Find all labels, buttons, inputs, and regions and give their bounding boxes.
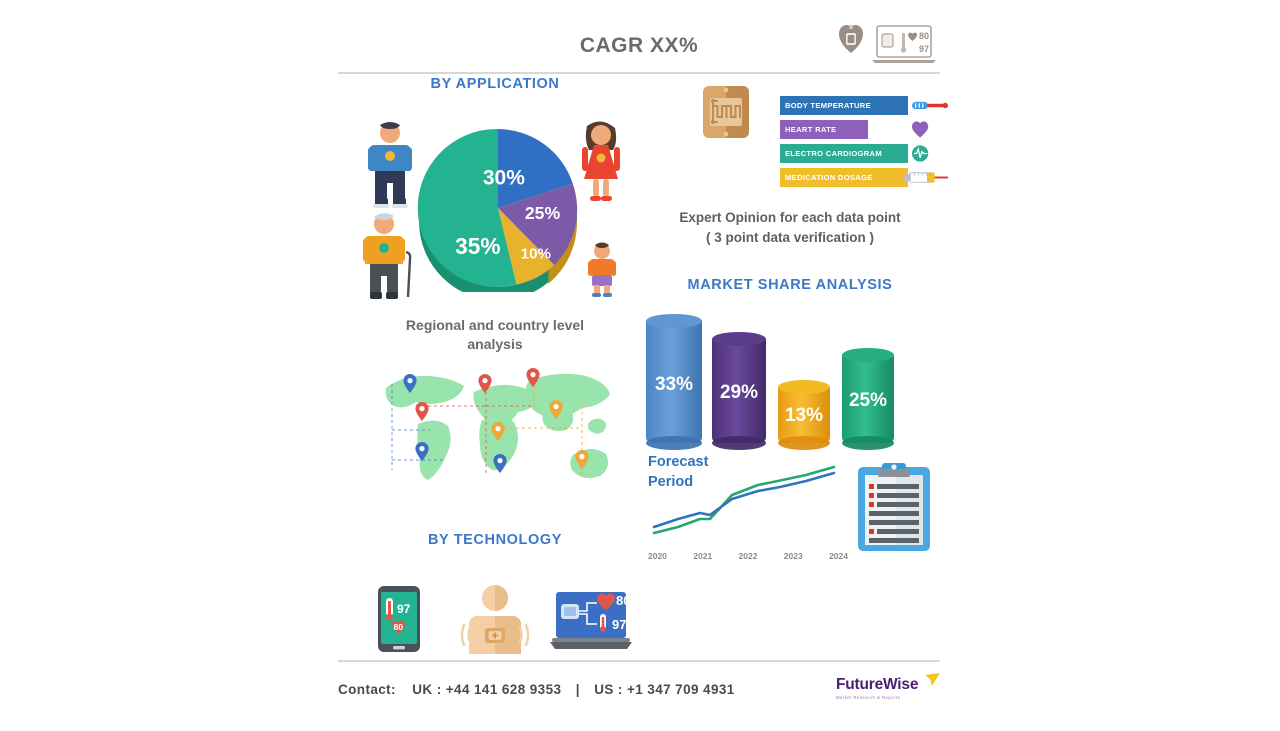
application-pie-chart: 30% 25% 10% 35% xyxy=(414,124,582,292)
bar-item: 33% xyxy=(646,321,702,443)
by-application-title: BY APPLICATION xyxy=(350,76,640,92)
bar-value: 33% xyxy=(646,374,702,396)
heart-device-icon xyxy=(838,24,864,54)
regional-analysis-title: Regional and country level analysis xyxy=(350,316,640,354)
world-map-pins xyxy=(378,362,618,502)
bar-item: 13% xyxy=(778,387,830,443)
infographic-page: CAGR XX% 80 97 BY APPLI xyxy=(0,0,1280,731)
expert-opinion-note: Expert Opinion for each data point ( 3 p… xyxy=(640,208,940,247)
footer: Contact: UK : +44 141 628 9353 | US : +1… xyxy=(338,676,940,720)
contact-us: US : +1 347 709 4931 xyxy=(594,682,734,697)
pie-label-30: 30% xyxy=(483,166,525,189)
right-column: BODY TEMPERATURE HEART RATE ELECTRO CARD… xyxy=(640,76,940,574)
futurewise-logo[interactable]: FutureWise Market Research & Reports xyxy=(836,676,940,708)
forecast-line-chart xyxy=(648,461,848,551)
year-tick: 2020 xyxy=(648,551,667,561)
bar-item: 29% xyxy=(712,339,766,443)
pie-label-10: 10% xyxy=(521,245,552,262)
vital-label-body-temperature: BODY TEMPERATURE xyxy=(780,96,908,115)
laptop-monitor-icon: 80 97 xyxy=(550,592,632,650)
man-figure xyxy=(366,122,414,208)
pie-chart-block: 30% 25% 10% 35% xyxy=(350,100,640,310)
bar-value: 13% xyxy=(778,405,830,427)
vital-label-medication-dosage: MEDICATION DOSAGE xyxy=(780,168,908,187)
forecast-year-axis: 2020 2021 2022 2023 2024 xyxy=(648,551,848,561)
forecast-block: Forecast Period 2020 2021 2022 2023 2024 xyxy=(640,449,940,574)
regional-title-line1: Regional and country level xyxy=(350,316,640,335)
footer-divider xyxy=(338,660,940,662)
infographic-canvas: CAGR XX% 80 97 BY APPLI xyxy=(338,0,940,731)
contact-line: Contact: UK : +44 141 628 9353 | US : +1… xyxy=(338,682,735,697)
world-map-block xyxy=(350,360,640,510)
vital-label-electro-cardiogram: ELECTRO CARDIOGRAM xyxy=(780,144,908,163)
market-share-bar-chart: 33% 29% 13% xyxy=(640,305,940,443)
contact-separator: | xyxy=(576,682,580,697)
heart-icon xyxy=(912,120,948,139)
year-tick: 2021 xyxy=(693,551,712,561)
vital-label-heart-rate: HEART RATE xyxy=(780,120,868,139)
year-tick: 2023 xyxy=(784,551,803,561)
svg-text:97: 97 xyxy=(397,602,411,616)
year-tick: 2022 xyxy=(739,551,758,561)
bar-value: 25% xyxy=(842,390,894,412)
body-sensor-icon xyxy=(454,584,536,654)
contact-label: Contact: xyxy=(338,682,396,697)
svg-text:80: 80 xyxy=(919,31,929,41)
bar-item: 25% xyxy=(842,355,894,443)
forecast-series-green xyxy=(654,467,834,533)
contact-uk: UK : +44 141 628 9353 xyxy=(412,682,561,697)
market-share-title: MARKET SHARE ANALYSIS xyxy=(640,277,940,293)
ecg-icon xyxy=(912,144,948,163)
bar-value: 29% xyxy=(712,382,766,404)
header: CAGR XX% 80 97 xyxy=(338,0,940,72)
header-icon-group: 80 97 xyxy=(838,22,938,68)
technology-icons-block: 97 80 xyxy=(350,552,640,670)
by-technology-title: BY TECHNOLOGY xyxy=(350,532,640,548)
year-tick: 2024 xyxy=(829,551,848,561)
clipboard-checklist-icon xyxy=(858,463,930,551)
smartphone-vitals-icon: 97 80 xyxy=(378,586,420,652)
thermometer-icon xyxy=(912,96,948,115)
pie-label-35: 35% xyxy=(455,233,500,259)
expert-note-line2: ( 3 point data verification ) xyxy=(640,228,940,248)
laptop-vitals-icon: 80 97 xyxy=(872,24,936,64)
content-grid: BY APPLICATION xyxy=(338,76,940,654)
svg-text:97: 97 xyxy=(919,44,929,54)
forecast-series-blue xyxy=(654,473,834,527)
child-figure xyxy=(588,242,616,298)
sensor-chip-icon xyxy=(680,86,772,138)
svg-text:97: 97 xyxy=(612,617,626,632)
expert-note-line1: Expert Opinion for each data point xyxy=(640,208,940,228)
regional-title-line2: analysis xyxy=(350,335,640,354)
woman-figure xyxy=(578,120,624,204)
left-column: BY APPLICATION xyxy=(350,76,640,670)
vitals-block: BODY TEMPERATURE HEART RATE ELECTRO CARD… xyxy=(640,86,940,204)
svg-text:80: 80 xyxy=(394,622,404,632)
syringe-icon xyxy=(904,168,950,187)
logo-flag-icon xyxy=(925,673,941,687)
elderly-man-figure xyxy=(362,212,414,302)
vitals-label-list: BODY TEMPERATURE HEART RATE ELECTRO CARD… xyxy=(780,96,908,192)
logo-tagline: Market Research & Reports xyxy=(836,695,940,700)
svg-text:80: 80 xyxy=(616,593,630,608)
header-divider xyxy=(338,72,940,74)
pie-label-25: 25% xyxy=(525,203,561,223)
